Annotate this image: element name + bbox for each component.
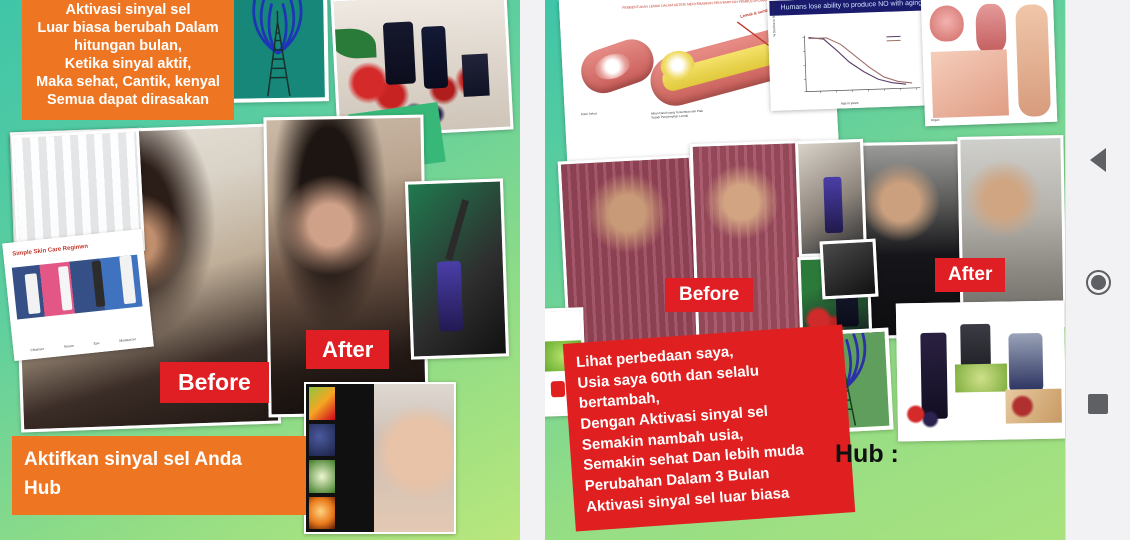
- caption-line: Hub: [24, 475, 294, 504]
- caption-line: Aktivasi sinyal sel: [32, 2, 224, 20]
- caption-line: Aktifkan sinyal sel Anda: [24, 446, 294, 475]
- no-decline-chart-slide: Humans lose ability to produce NO with a…: [767, 0, 939, 111]
- caption-line: Semua dapat dirasakan: [32, 92, 224, 110]
- chart-slide-title: Humans lose ability to produce NO with a…: [769, 0, 933, 16]
- signal-waves-icon: [231, 0, 325, 99]
- android-navigation-bar[interactable]: [1065, 0, 1130, 540]
- right-collage-image[interactable]: PEMBENTUKAN LEMAK DALAM ARTERI MENYEBABK…: [545, 0, 1065, 540]
- android-photo-viewer: Simple Skin Care Regimen CleanserSerumEy…: [0, 0, 1130, 540]
- caption-bottom-left: Aktifkan sinyal sel Anda Hub: [12, 436, 306, 515]
- ingredient-row: [308, 386, 372, 421]
- badge-before-left: Before: [160, 362, 269, 403]
- woman-after-photo: [263, 115, 428, 418]
- signal-tower-card: [227, 0, 329, 103]
- ingredient-column: [306, 384, 374, 532]
- ingredient-row: [308, 423, 372, 458]
- caption-line: Ketika sinyal aktif,: [32, 56, 224, 74]
- caption-line: hitungan bulan,: [32, 38, 224, 56]
- recents-button[interactable]: [1078, 384, 1118, 424]
- model-face-photo: [374, 384, 454, 532]
- ingredients-infographic: [304, 382, 456, 534]
- chart-x-axis-label: Age in years: [841, 101, 859, 106]
- no-decline-line-chart: [778, 25, 929, 106]
- ingredient-row: [308, 496, 372, 531]
- product-lineup-photo: [896, 301, 1065, 442]
- back-triangle-icon: [1090, 148, 1106, 172]
- home-button[interactable]: [1078, 262, 1118, 302]
- back-button[interactable]: [1078, 140, 1118, 180]
- recents-square-icon: [1088, 394, 1108, 414]
- badge-after-left: After: [306, 330, 389, 369]
- caption-line: Luar biasa berubah Dalam: [32, 20, 224, 38]
- left-collage-image[interactable]: Simple Skin Care Regimen CleanserSerumEy…: [0, 0, 520, 540]
- caption-line: Maka sehat, Cantik, kenyal: [32, 74, 224, 92]
- camera-product-photo: [820, 239, 879, 300]
- serum-dropper-photo: [405, 178, 509, 359]
- ingredient-row: [308, 459, 372, 494]
- gallery-viewer[interactable]: Simple Skin Care Regimen CleanserSerumEy…: [0, 0, 1065, 540]
- badge-before-right: Before: [665, 278, 753, 312]
- caption-red-right: Lihat perbedaan saya, Usia saya 60th dan…: [563, 324, 855, 531]
- hub-text-right: Hub :: [835, 440, 899, 469]
- skin-care-regimen-card: Simple Skin Care Regimen CleanserSerumEy…: [2, 229, 154, 361]
- home-circle-icon: [1086, 270, 1111, 295]
- caption-top-left: Aktivasi sinyal sel Luar biasa berubah D…: [22, 0, 234, 120]
- badge-after-right: After: [935, 258, 1005, 292]
- anatomy-diagram: Organ: [921, 0, 1057, 126]
